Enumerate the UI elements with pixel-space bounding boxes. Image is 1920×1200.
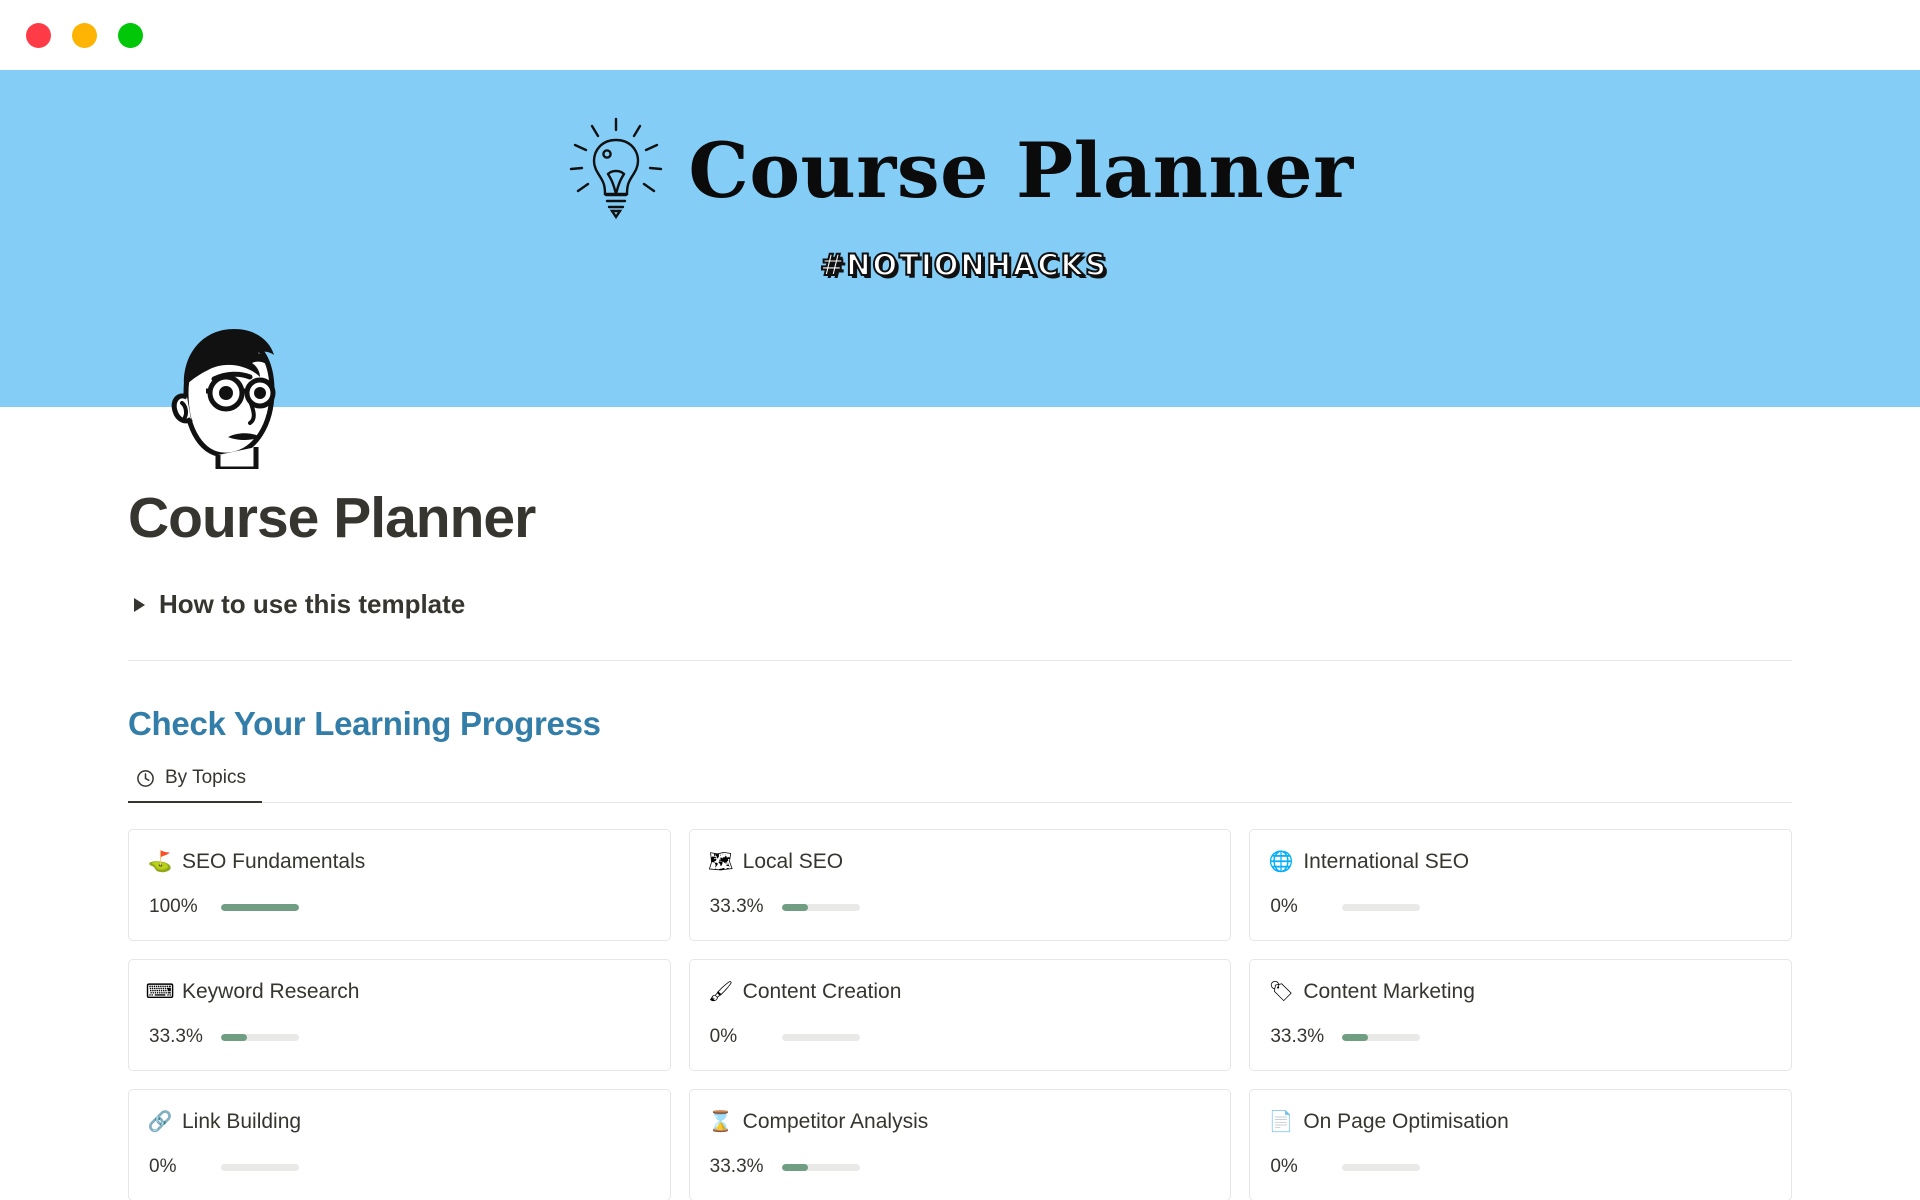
topic-progress-track bbox=[1342, 1164, 1420, 1171]
cover-banner: Course Planner #NOTIONHACKS bbox=[0, 70, 1920, 407]
topic-card[interactable]: ⌨Keyword Research33.3% bbox=[128, 959, 671, 1071]
globe-icon: 🌐 bbox=[1270, 852, 1292, 872]
page-icon: 📄 bbox=[1270, 1112, 1292, 1132]
cover-subtitle: #NOTIONHACKS bbox=[812, 248, 1108, 282]
tab-by-topics-label: By Topics bbox=[165, 767, 246, 789]
topic-progress-fill bbox=[782, 904, 808, 911]
topic-progress-track bbox=[221, 904, 299, 911]
topic-card-header: ⌛Competitor Analysis bbox=[710, 1110, 1211, 1134]
topic-progress-percent: 33.3% bbox=[1270, 1026, 1328, 1048]
clock-icon bbox=[136, 769, 155, 788]
topic-progress-percent: 33.3% bbox=[710, 1156, 768, 1178]
topic-cards-grid: ⛳SEO Fundamentals100%🗺Local SEO33.3%🌐Int… bbox=[128, 829, 1792, 1200]
topic-progress: 100% bbox=[149, 896, 650, 918]
topic-card-header: 📄On Page Optimisation bbox=[1270, 1110, 1771, 1134]
page-title: Course Planner bbox=[128, 485, 1792, 551]
topic-progress: 0% bbox=[1270, 896, 1771, 918]
paintbrush-icon: 🖌 bbox=[710, 982, 732, 1002]
topic-progress-track bbox=[782, 1164, 860, 1171]
minimize-window-button[interactable] bbox=[72, 23, 97, 48]
topic-card-header: ⌨Keyword Research bbox=[149, 980, 650, 1004]
topic-progress-fill bbox=[782, 1164, 808, 1171]
section-divider bbox=[128, 660, 1792, 661]
topic-card-header: ⛳SEO Fundamentals bbox=[149, 850, 650, 874]
topic-progress-fill bbox=[1342, 1034, 1368, 1041]
tab-by-topics[interactable]: By Topics bbox=[128, 763, 262, 803]
topic-card-title: Competitor Analysis bbox=[743, 1110, 929, 1134]
traffic-light-buttons bbox=[26, 23, 143, 48]
topic-card-header: 🖌Content Creation bbox=[710, 980, 1211, 1004]
topic-progress-track bbox=[221, 1164, 299, 1171]
topic-progress-track bbox=[221, 1034, 299, 1041]
topic-progress-track bbox=[1342, 904, 1420, 911]
cover-title: Course Planner bbox=[688, 133, 1353, 209]
topic-progress-percent: 0% bbox=[1270, 1156, 1328, 1178]
topic-cards-viewport: ⛳SEO Fundamentals100%🗺Local SEO33.3%🌐Int… bbox=[128, 803, 1792, 1200]
cover-title-row: Course Planner bbox=[566, 116, 1353, 226]
topic-progress-percent: 0% bbox=[149, 1156, 207, 1178]
topic-progress-percent: 33.3% bbox=[710, 896, 768, 918]
topic-progress: 33.3% bbox=[1270, 1026, 1771, 1048]
topic-card-title: SEO Fundamentals bbox=[182, 850, 365, 874]
topic-card[interactable]: 🔗Link Building0% bbox=[128, 1089, 671, 1200]
topic-card-header: 🌐International SEO bbox=[1270, 850, 1771, 874]
topic-card[interactable]: 📄On Page Optimisation0% bbox=[1249, 1089, 1792, 1200]
topic-progress: 33.3% bbox=[710, 1156, 1211, 1178]
topic-progress-percent: 33.3% bbox=[149, 1026, 207, 1048]
learning-progress-heading: Check Your Learning Progress bbox=[128, 705, 1792, 743]
topic-card-title: Link Building bbox=[182, 1110, 301, 1134]
cover-content: Course Planner #NOTIONHACKS bbox=[0, 116, 1920, 282]
topic-card-header: 🗺Local SEO bbox=[710, 850, 1211, 874]
topic-progress: 0% bbox=[710, 1026, 1211, 1048]
topic-progress: 0% bbox=[1270, 1156, 1771, 1178]
topic-card-title: Content Marketing bbox=[1303, 980, 1475, 1004]
topic-card-title: Local SEO bbox=[743, 850, 843, 874]
topic-progress: 33.3% bbox=[710, 896, 1211, 918]
tag-icon: 🏷 bbox=[1270, 982, 1292, 1002]
topic-card-title: Keyword Research bbox=[182, 980, 359, 1004]
topic-card-title: Content Creation bbox=[743, 980, 902, 1004]
topic-card-header: 🔗Link Building bbox=[149, 1110, 650, 1134]
keyboard-icon: ⌨ bbox=[149, 982, 171, 1002]
how-to-use-toggle[interactable]: How to use this template bbox=[128, 589, 1792, 620]
topic-progress-track bbox=[782, 1034, 860, 1041]
topic-card[interactable]: 🗺Local SEO33.3% bbox=[689, 829, 1232, 941]
page-body: Course Planner How to use this template … bbox=[0, 485, 1920, 1200]
topic-card[interactable]: ⛳SEO Fundamentals100% bbox=[128, 829, 671, 941]
avatar bbox=[160, 321, 284, 469]
topic-progress: 33.3% bbox=[149, 1026, 650, 1048]
topic-card[interactable]: 🖌Content Creation0% bbox=[689, 959, 1232, 1071]
topic-card[interactable]: ⌛Competitor Analysis33.3% bbox=[689, 1089, 1232, 1200]
window-titlebar bbox=[0, 0, 1920, 70]
page-content: Course Planner How to use this template … bbox=[0, 485, 1920, 1200]
lightbulb-icon bbox=[566, 116, 666, 226]
hourglass-icon: ⌛ bbox=[710, 1112, 732, 1132]
maximize-window-button[interactable] bbox=[118, 23, 143, 48]
topic-card-title: International SEO bbox=[1303, 850, 1469, 874]
link-icon: 🔗 bbox=[149, 1112, 171, 1132]
topic-progress-track bbox=[1342, 1034, 1420, 1041]
topic-progress-percent: 100% bbox=[149, 896, 207, 918]
topic-progress-track bbox=[782, 904, 860, 911]
topic-card[interactable]: 🏷Content Marketing33.3% bbox=[1249, 959, 1792, 1071]
close-window-button[interactable] bbox=[26, 23, 51, 48]
how-to-use-toggle-label: How to use this template bbox=[159, 589, 465, 620]
view-tabs: By Topics bbox=[128, 763, 1792, 803]
topic-progress-fill bbox=[221, 1034, 247, 1041]
triangle-right-icon[interactable] bbox=[134, 598, 145, 612]
topic-progress: 0% bbox=[149, 1156, 650, 1178]
topic-progress-percent: 0% bbox=[710, 1026, 768, 1048]
topic-card-header: 🏷Content Marketing bbox=[1270, 980, 1771, 1004]
map-icon: 🗺 bbox=[710, 852, 732, 872]
topic-progress-percent: 0% bbox=[1270, 896, 1328, 918]
topic-card[interactable]: 🌐International SEO0% bbox=[1249, 829, 1792, 941]
topic-progress-fill bbox=[221, 904, 299, 911]
topic-card-title: On Page Optimisation bbox=[1303, 1110, 1508, 1134]
golf-flag-icon: ⛳ bbox=[149, 852, 171, 872]
